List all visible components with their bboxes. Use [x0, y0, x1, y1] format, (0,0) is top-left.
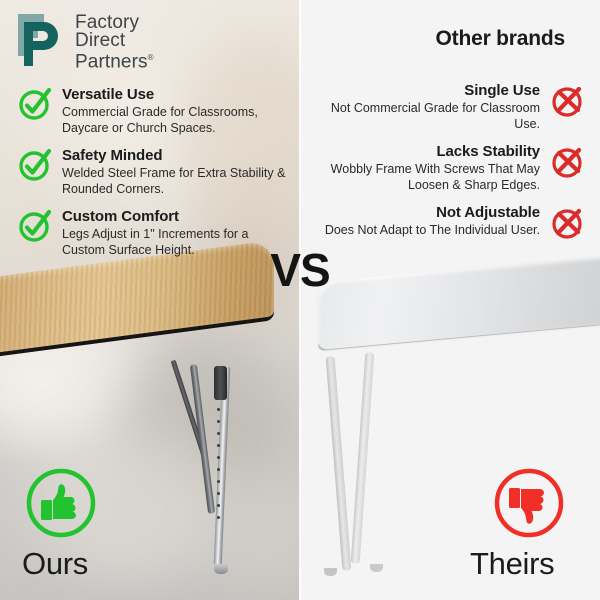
verdict-ours: Ours [24, 466, 98, 582]
x-circle-icon [550, 205, 584, 239]
feature-description: Commercial Grade for Classrooms, Daycare… [62, 105, 286, 136]
ours-feature-list: Versatile Use Commercial Grade for Class… [18, 86, 286, 269]
panel-divider [299, 0, 301, 600]
table-leg [326, 356, 352, 571]
feature-description: Does Not Adapt to The Individual User. [312, 223, 540, 239]
x-circle-icon [550, 144, 584, 178]
feature-description: Welded Steel Frame for Extra Stability &… [62, 166, 286, 197]
feature-title: Safety Minded [62, 147, 286, 165]
brand-wordmark: Factory Direct Partners® [75, 12, 154, 71]
feature-title: Not Adjustable [312, 204, 540, 222]
fdp-monogram-icon [18, 12, 66, 66]
feature-title: Single Use [312, 82, 540, 100]
logo-line-2: Direct [75, 32, 154, 50]
feature-title: Custom Comfort [62, 208, 286, 226]
x-circle-icon [550, 83, 584, 117]
thumbs-up-icon [24, 466, 98, 540]
brand-logo[interactable]: Factory Direct Partners® [18, 12, 154, 71]
logo-letter-p [24, 22, 66, 66]
feature-item: Single Use Not Commercial Grade for Clas… [312, 82, 584, 132]
other-brands-heading: Other brands [300, 27, 585, 51]
feature-item: Safety Minded Welded Steel Frame for Ext… [18, 147, 286, 197]
feature-item: Not Adjustable Does Not Adapt to The Ind… [312, 204, 584, 239]
check-circle-icon [18, 209, 52, 243]
table-foot [214, 564, 228, 574]
check-circle-icon [18, 87, 52, 121]
feature-item: Lacks Stability Wobbly Frame With Screws… [312, 143, 584, 193]
feature-title: Versatile Use [62, 86, 286, 104]
comparison-infographic: Factory Direct Partners® Other brands Ve… [0, 0, 600, 600]
thumbs-down-icon [492, 466, 566, 540]
check-circle-icon [18, 148, 52, 182]
table-leg [351, 352, 375, 564]
table-height-adjust-holes [215, 408, 221, 538]
verdict-theirs: Theirs [492, 466, 566, 582]
logo-line-1: Factory [75, 14, 154, 32]
versus-label: VS [0, 243, 600, 297]
feature-item: Versatile Use Commercial Grade for Class… [18, 86, 286, 136]
table-foot [324, 568, 337, 576]
feature-description: Not Commercial Grade for Classroom Use. [312, 101, 540, 132]
registered-mark: ® [148, 53, 154, 62]
feature-title: Lacks Stability [312, 143, 540, 161]
logo-line-3: Partners® [75, 49, 154, 71]
feature-description: Wobbly Frame With Screws That May Loosen… [312, 162, 540, 193]
verdict-label-ours: Ours [22, 546, 98, 582]
table-leg-clamp [214, 366, 227, 400]
verdict-label-theirs: Theirs [470, 546, 566, 582]
table-foot [370, 564, 383, 572]
table-leg-inner [190, 364, 215, 514]
other-brands-feature-list: Single Use Not Commercial Grade for Clas… [312, 82, 584, 250]
